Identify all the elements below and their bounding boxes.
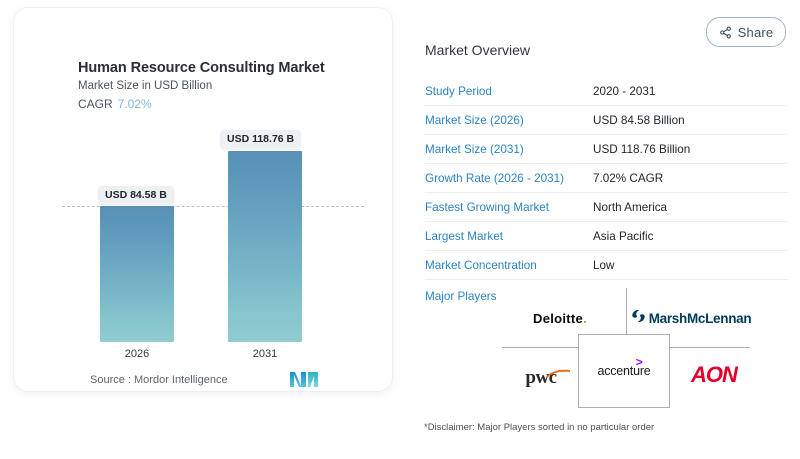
bar-value-label-2031: USD 118.76 B [220, 130, 301, 149]
disclaimer-text: *Disclaimer: Major Players sorted in no … [424, 422, 654, 433]
row-value: USD 84.58 Billion [593, 114, 685, 127]
source-text: Source : Mordor Intelligence [90, 374, 228, 386]
marsh-mark-icon [631, 309, 646, 328]
table-row: Market Size (2026) USD 84.58 Billion [425, 106, 788, 135]
accenture-arrow-icon: > [636, 355, 643, 369]
row-key: Market Size (2031) [425, 143, 593, 156]
table-row: Market Concentration Low [425, 251, 788, 280]
logo-deloitte: Deloitte. [504, 302, 616, 334]
x-axis-label-2026: 2026 [100, 348, 174, 360]
row-key: Study Period [425, 85, 593, 98]
share-button[interactable]: Share [706, 17, 786, 47]
pwc-swoosh-icon [545, 362, 569, 369]
x-axis-label-2031: 2031 [228, 348, 302, 360]
bar-2031[interactable] [228, 151, 302, 342]
table-row: Largest Market Asia Pacific [425, 222, 788, 251]
row-key: Largest Market [425, 230, 593, 243]
row-value: North America [593, 201, 667, 214]
aon-wordmark: AON [691, 362, 737, 388]
bar-chart-plot: USD 84.58 B USD 118.76 B 2026 2031 [14, 8, 392, 391]
logo-pwc: pwc [508, 360, 574, 396]
marsh-wordmark: MarshMcLennan [649, 311, 752, 326]
mordor-intelligence-logo-icon [290, 371, 318, 388]
bar-value-label-2026: USD 84.58 B [98, 186, 174, 205]
share-icon [719, 26, 732, 39]
row-value: USD 118.76 Billion [593, 143, 690, 156]
table-row: Fastest Growing Market North America [425, 193, 788, 222]
major-players-diagram: Deloitte. MarshMcLennan pwc [502, 288, 750, 406]
table-row: Growth Rate (2026 - 2031) 7.02% CAGR [425, 164, 788, 193]
market-overview-panel: Market Overview Study Period 2020 - 2031… [425, 42, 788, 303]
logo-aon: AON [678, 356, 750, 394]
table-row: Study Period 2020 - 2031 [425, 77, 788, 106]
deloitte-dot-icon: . [583, 311, 587, 326]
share-label: Share [738, 25, 774, 40]
row-value: 2020 - 2031 [593, 85, 655, 98]
table-row: Market Size (2031) USD 118.76 Billion [425, 135, 788, 164]
row-value: Low [593, 259, 614, 272]
bar-2026[interactable] [100, 206, 174, 342]
row-value: Asia Pacific [593, 230, 653, 243]
row-value: 7.02% CAGR [593, 172, 663, 185]
logo-accenture-box: accenture > [578, 334, 670, 408]
row-key: Fastest Growing Market [425, 201, 593, 214]
row-key: Growth Rate (2026 - 2031) [425, 172, 593, 185]
page-root: Share Human Resource Consulting Market M… [0, 0, 800, 459]
deloitte-wordmark: Deloitte [533, 311, 583, 326]
row-key: Market Size (2026) [425, 114, 593, 127]
chart-card: Human Resource Consulting Market Market … [14, 8, 392, 391]
logo-marshmclennan: MarshMcLennan [632, 302, 750, 334]
row-key: Market Concentration [425, 259, 593, 272]
